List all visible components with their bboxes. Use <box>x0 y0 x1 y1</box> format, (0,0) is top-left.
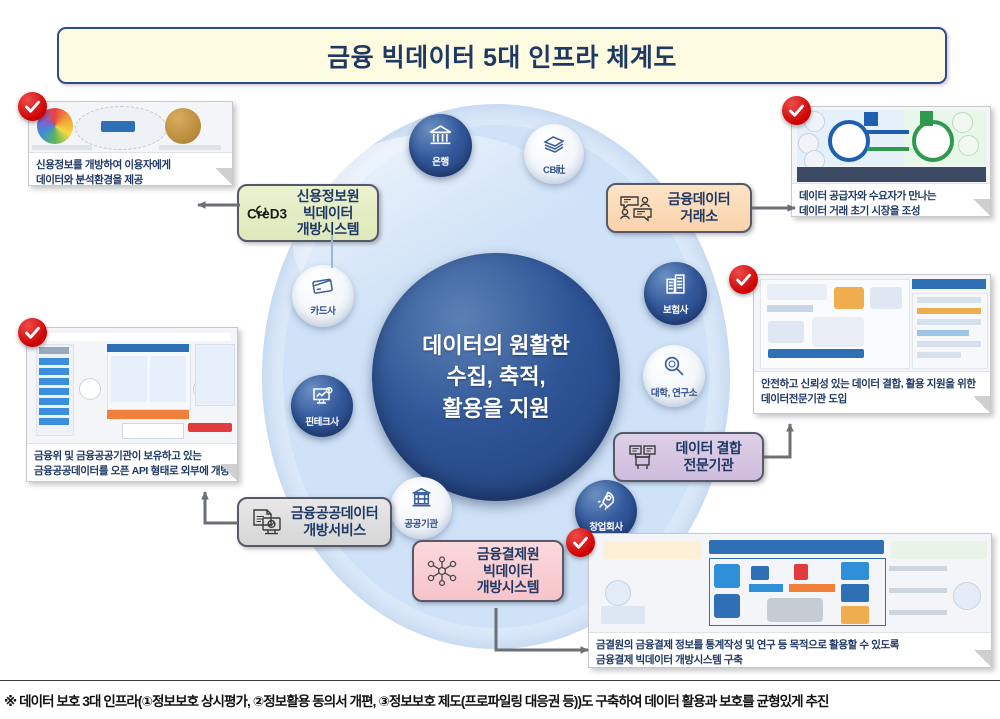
node-bank-label: 은행 <box>432 154 449 168</box>
card-fold <box>215 168 232 185</box>
infra-label-exchange[interactable]: 금융데이터 거래소 <box>606 183 752 233</box>
core-line-3: 활용을 지원 <box>422 393 570 424</box>
infra-thumb-exchange <box>792 107 990 184</box>
check-badge-combine <box>729 265 758 294</box>
infra-card-exchange: 데이터 공급자와 수요자가 만나는 데이터 거래 초기 시장을 조성 <box>791 106 991 217</box>
credb-logo-icon: CreD3 <box>247 193 287 233</box>
node-startup-label: 창업회사 <box>589 519 622 533</box>
node-public-label: 공공기관 <box>404 516 437 530</box>
monitor-chart-icon <box>311 385 334 412</box>
node-fintech[interactable]: 핀테크사 <box>291 375 353 437</box>
building-icon <box>664 272 687 300</box>
core-line-2: 수집, 축적, <box>422 361 570 392</box>
node-bank[interactable]: 은행 <box>409 114 472 177</box>
node-insurance[interactable]: 보험사 <box>644 262 707 325</box>
footnote: ※ 데이터 보호 3대 인프라(①정보보호 상시평가, ②정보활용 동의서 개편… <box>4 690 996 710</box>
chat-exchange-icon <box>616 188 656 228</box>
money-stack-icon <box>542 133 566 160</box>
bank-icon <box>428 124 453 152</box>
infra-card-credb: 신용정보를 개방하여 이용자에게 데이터와 분석환경을 제공 <box>28 101 233 186</box>
check-badge-exchange <box>782 96 811 125</box>
footer-divider <box>0 680 1000 681</box>
infra-caption-exchange: 데이터 공급자와 수요자가 만나는 데이터 거래 초기 시장을 조성 <box>792 184 990 225</box>
node-university[interactable]: 대학, 연구소 <box>643 345 705 407</box>
node-cb-label: CB社 <box>543 162 565 176</box>
infra-thumb-publicdata <box>27 328 237 444</box>
infra-caption-kftc: 금결원의 금융결제 정보를 통계작성 및 연구 등 목적으로 활용할 수 있도록… <box>589 633 991 674</box>
infra-thumb-credb <box>29 102 232 153</box>
node-card[interactable]: 카드사 <box>292 265 354 327</box>
infra-card-combine: 안전하고 신뢰성 있는 데이터 결합, 활용 지원을 위한 데이터전문기관 도입 <box>753 274 991 414</box>
infra-label-credb[interactable]: CreD3 신용정보원 빅데이터 개방시스템 <box>237 184 379 242</box>
infra-label-combine-text: 데이터 결합 전문기관 <box>663 440 754 474</box>
svg-text:CreD3: CreD3 <box>247 206 287 221</box>
infra-label-publicdata-text: 금융공공데이터 개방서비스 <box>287 505 382 539</box>
node-public[interactable]: 공공기관 <box>390 477 452 539</box>
check-badge-credb <box>18 92 47 121</box>
check-badge-kftc <box>566 528 595 557</box>
card-fold <box>973 396 990 413</box>
magnifier-icon <box>662 354 686 383</box>
infra-card-kftc: 금결원의 금융결제 정보를 통계작성 및 연구 등 목적으로 활용할 수 있도록… <box>588 533 992 668</box>
page-title: 금융 빅데이터 5대 인프라 체계도 <box>57 27 947 84</box>
infra-label-kftc-text: 금융결제원 빅데이터 개방시스템 <box>462 546 554 596</box>
infra-thumb-kftc <box>589 534 991 633</box>
core-text: 데이터의 원활한 수집, 축적, 활용을 지원 <box>422 330 570 424</box>
core-circle: 데이터의 원활한 수집, 축적, 활용을 지원 <box>372 253 620 501</box>
infra-label-credb-text: 신용정보원 빅데이터 개방시스템 <box>287 188 369 238</box>
infra-label-publicdata[interactable]: 금융공공데이터 개방서비스 <box>237 497 392 547</box>
node-card-label: 카드사 <box>310 303 335 317</box>
data-merge-icon <box>623 437 663 477</box>
node-fintech-label: 핀테크사 <box>305 414 338 428</box>
page-title-text: 금융 빅데이터 5대 인프라 체계도 <box>327 38 677 74</box>
infra-caption-publicdata: 금융위 및 금융공공기관이 보유하고 있는 금융공공데이터를 오픈 API 형태… <box>27 444 237 485</box>
infra-label-combine[interactable]: 데이터 결합 전문기관 <box>613 432 764 482</box>
check-badge-publicdata <box>18 318 47 347</box>
node-cb[interactable]: CB社 <box>524 124 584 184</box>
infra-caption-credb: 신용정보를 개방하여 이용자에게 데이터와 분석환경을 제공 <box>29 153 232 194</box>
infra-label-kftc[interactable]: 금융결제원 빅데이터 개방시스템 <box>412 540 564 602</box>
card-fold <box>973 199 990 216</box>
node-insurance-label: 보험사 <box>663 302 688 316</box>
infra-caption-combine: 안전하고 신뢰성 있는 데이터 결합, 활용 지원을 위한 데이터전문기관 도입 <box>754 372 990 413</box>
node-university-label: 대학, 연구소 <box>651 385 697 399</box>
open-data-icon <box>247 502 287 542</box>
network-nodes-icon <box>422 551 462 591</box>
rocket-icon <box>595 489 618 517</box>
infra-card-publicdata: 금융위 및 금융공공기관이 보유하고 있는 금융공공데이터를 오픈 API 형태… <box>26 327 238 482</box>
government-icon <box>410 486 433 514</box>
infra-thumb-combine <box>754 275 990 372</box>
card-fold <box>220 464 237 481</box>
diagram-canvas: 금융 빅데이터 5대 인프라 체계도 데이터의 원활한 수집, 축적, 활용을 … <box>0 0 1000 719</box>
card-fold <box>974 650 991 667</box>
infra-label-exchange-text: 금융데이터 거래소 <box>656 191 742 225</box>
core-line-1: 데이터의 원활한 <box>422 330 570 361</box>
credit-card-icon <box>311 276 335 301</box>
